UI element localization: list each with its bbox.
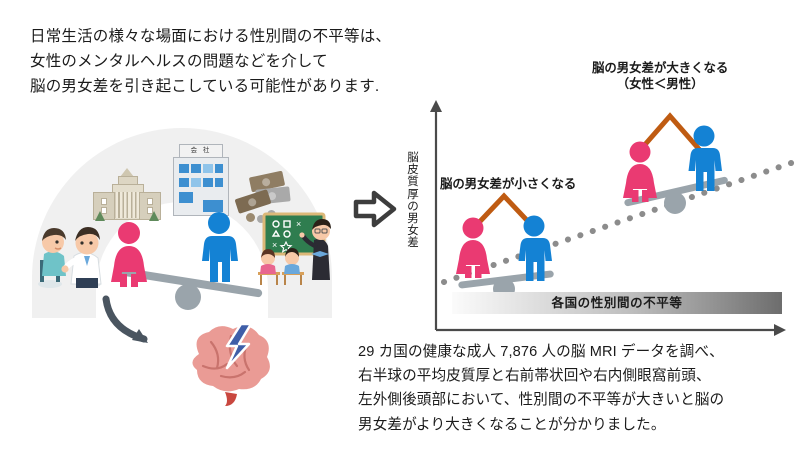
company-building-body: [173, 157, 229, 216]
y-axis-arrowhead: [430, 100, 442, 112]
classroom-icon: × ×: [252, 210, 338, 292]
headline-line-2: 女性のメンタルヘルスの問題などを介して: [30, 49, 430, 74]
svg-text:×: ×: [296, 219, 301, 229]
x-axis-arrowhead: [774, 324, 786, 336]
headline-line-1: 日常生活の様々な場面における性別間の不平等は、: [30, 24, 430, 49]
inequality-gradient-bar: 各国の性別間の不平等: [452, 292, 782, 314]
summary-line-2: 右半球の平均皮質厚と右前帯状回や右内側眼窩前頭、: [358, 364, 798, 388]
diet-columns: [114, 192, 140, 218]
doctor-consultation-icon: [32, 216, 114, 292]
company-door: [203, 200, 223, 212]
high-inequality-note: 脳の男女差が大きくなる （女性＜男性）: [592, 60, 728, 92]
summary-line-1: 29 カ国の健康な成人 7,876 人の脳 MRI データを調べ、: [358, 340, 798, 364]
low-inequality-note: 脳の男女差が小さくなる: [440, 176, 576, 192]
diet-shrub-right: [149, 211, 159, 221]
curved-down-arrow-icon: [100, 295, 172, 351]
headline-text: 日常生活の様々な場面における性別間の不平等は、 女性のメンタルヘルスの問題などを…: [30, 24, 430, 99]
seesaw-pivot: [175, 284, 201, 310]
society-illustration: 会 社: [18, 120, 348, 320]
diet-building-icon: [93, 168, 161, 220]
headline-line-3: 脳の男女差を引き起こしている可能性があります.: [30, 74, 430, 99]
slide-root: 日常生活の様々な場面における性別間の不平等は、 女性のメンタルヘルスの問題などを…: [0, 0, 800, 471]
summary-line-3: 左外側後頭部において、性別間の不平等が大きいと脳の: [358, 388, 798, 412]
company-sign-label: 会 社: [179, 144, 223, 158]
y-axis-label: 脳 皮 質 厚 の 男 女 差: [404, 152, 422, 250]
company-building-icon: 会 社: [171, 144, 229, 216]
female-figure-icon: [106, 222, 152, 288]
male-figure-icon: [196, 212, 242, 282]
summary-line-4: 男女差がより大きくなることが分かりました。: [358, 413, 798, 437]
high-female-figure-icon: [623, 142, 657, 203]
svg-text:×: ×: [272, 240, 277, 250]
brain-icon: [175, 322, 279, 402]
summary-text: 29 カ国の健康な成人 7,876 人の脳 MRI データを調べ、 右半球の平均…: [358, 340, 798, 437]
low-female-figure-icon: [456, 218, 490, 279]
flow-block-right-arrow-icon: [350, 185, 402, 233]
